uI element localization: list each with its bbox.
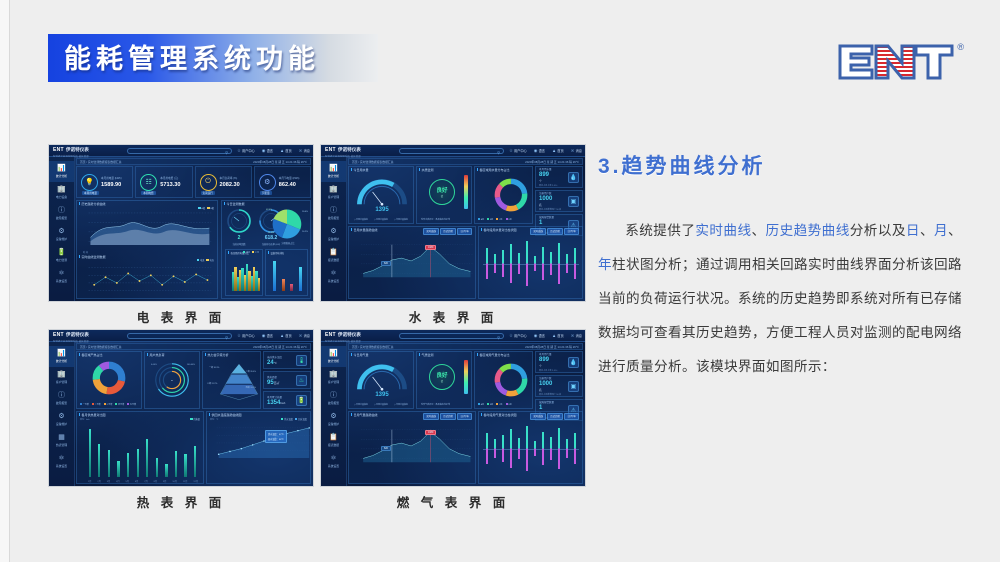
user-icon: ☃ [509,333,513,338]
sidebar-item-maintenance[interactable]: ⚙设备维护 [49,224,74,245]
brand-en: ENT [325,148,336,153]
panel-temp-trend: 供回水温度趋势曲线图 供水温度 回水温度 单位：℃ [206,411,311,484]
dashboard-canvas: 今日用气量 1395 ◇ 日用水量指标 ◇ 月用水量指标 ◇ 年用水量指标 气质… [348,351,583,484]
kpi-side-column: 本月用气量 899个 同比上月上涨 2.4% ↑ 💧 注册用户数 1000名 同… [535,351,583,409]
tooltip-line: 回水温度：38℃ [268,437,284,441]
alert-icon: ⓘ [58,392,65,399]
quality-color-scale [464,360,468,394]
sidebar-item-label: 故障报警 [56,216,67,220]
chart-axis-label: 时 间 [83,250,88,254]
sidebar-item-alarm[interactable]: ⓘ故障报警 [49,203,74,224]
kpi-label: 故障报警数量 [539,400,562,404]
topmenu-item-user[interactable]: ☃用户中心 [509,148,527,153]
screenshot-gas-meter[interactable]: ENT伊诺特仪表 智慧楼宇能源管理系统·能耗管理 ⚲ ☃用户中心 ◉语言 ▲首页… [320,329,586,487]
sidebar-item-devices[interactable]: 🏢电力设备 [49,182,74,203]
dashboard-header: ENT伊诺特仪表 智慧楼宇能源管理系统·能耗管理 ⚲ ☃用户中心 ◉语言 ▲首页… [49,145,313,157]
panel-title: 实时曲线监测数据 [79,255,106,259]
sidebar-item-customers[interactable]: 🏢客户管理 [49,367,74,388]
donut-legend: A区 B区 C区 D区 [478,218,512,221]
breadcrumb: 首页 / 实时监测数据报表数据汇总 [352,345,394,349]
bar-group-bidirectional [483,422,579,475]
chart-icon: 📊 [57,350,66,357]
sidebar-item-settings[interactable]: ⚛系统设置 [49,451,74,472]
kpi-row: 💡 本月用电量 (kWh) 1589.90 本期用电量 ☷ 本月用电费 (元) … [76,166,311,198]
legend-item: 上月 [252,251,259,254]
paragraph-text: 、 [920,223,934,238]
topmenu-item-user[interactable]: ☃用户中心 [237,333,255,338]
building-icon: 🏢 [329,371,338,378]
chart-marker-peak: 1689 [425,245,436,250]
search-icon: ⚲ [497,335,500,340]
sidebar-item-statistics[interactable]: 📊统计分析 [321,161,346,182]
kpi-unit: 个 [539,179,558,183]
topmenu-item-lang[interactable]: ◉语言 [262,148,273,153]
panel-title: 今日用水量 [351,168,369,172]
chart-button-row: 实时曲线 历史趋势 日/月/年 [423,413,472,420]
sidebar-item-settings[interactable]: ⚛系统设置 [49,266,74,287]
donut-legend: A区 B区 C区 D区 [478,403,512,406]
user-square-icon: ▣ [568,196,579,207]
button-realtime-curve[interactable]: 实时曲线 [423,413,439,420]
kpi-value: 1589.90 [101,182,122,188]
meter-icon: 🔋 [57,249,66,256]
kpi-tag: 节能量 [260,191,272,195]
legend-item: A区 [478,403,484,406]
pie-chart-energy-share [270,207,304,241]
screenshot-water-meter[interactable]: ENT伊诺特仪表 智慧楼宇能源管理系统·能耗管理 ⚲ ☃用户中心 ◉语言 ▲首页… [320,144,586,302]
droplet-icon: 💧 [568,357,579,368]
kpi-unit: 百㎡ [274,381,280,385]
topmenu-item-home[interactable]: ▲首页 [552,148,564,153]
grid-icon: ▦ [58,434,65,441]
pie-title: 分项能耗占比 [268,241,308,245]
kpi-value: 95 [267,380,274,386]
kpi-note: 同比上月上涨 2.4% ↑ [539,369,558,372]
button-history-trend[interactable]: 历史趋势 [440,228,456,235]
topmenu-item-bell[interactable]: ☉消息 [299,148,310,153]
chart-button-row: 实时曲线 历史趋势 日/月/年 [423,228,472,235]
report-icon: 📋 [329,249,338,256]
search-icon: ⚲ [497,150,500,155]
sidebar-item-statistics[interactable]: 📊统计分析 [49,161,74,182]
panel-today-usage: 今日用水量 1395 ◇ 日用水量指标 ◇ 月用水量指标 ◇ 年用水量指标 [348,166,414,224]
line-chart-usage [351,237,475,283]
legend-item: 五号楼 [127,403,136,406]
breadcrumb-bar: 首页 / 实时监测数据报表数据汇总 2020年08月28日 星 期 五 14:2… [348,158,583,165]
bar-group-bidirectional [483,237,579,290]
chart-icon: 📊 [329,350,338,357]
dashboard-canvas: 💡 本月用电量 (kWh) 1589.90 本期用电量 ☷ 本月用电费 (元) … [76,166,311,299]
breadcrumb: 首页 / 实时监测数据报表数据汇总 [352,160,394,164]
button-history-trend[interactable]: 历史趋势 [547,413,563,420]
breadcrumb: 首页 / 实时监测数据报表数据汇总 [80,345,122,349]
topmenu-item-bell[interactable]: ☉消息 [571,148,582,153]
kpi-card-heating-area[interactable]: 供热面积 95百㎡ ♨ [263,371,311,389]
pyramid-level-label: 二级 26.4% [246,370,256,373]
kpi-label: 注册用户数 [539,376,561,380]
legend-item: D区 [506,403,512,406]
home-icon: ▲ [552,333,556,338]
alert-icon: ⓘ [58,207,65,214]
gear-icon: ⚛ [58,455,64,462]
gear-icon: ⚛ [330,455,336,462]
search-input[interactable]: ⚲ [399,148,504,154]
dashboard-sidebar: 📊统计分析 🏢电力设备 ⓘ故障报警 ⚙设备维护 🔋电力监测 ⚛系统设置 [49,157,75,301]
kpi-value: 5713.30 [160,182,180,188]
gauge-label: 当前功率因数 [222,242,256,246]
panel-gas-usage-trend: 日用气量趋势曲线 实时曲线 历史趋势 日/月/年 820 1 [348,411,476,484]
quality-status-ring: 良好 优 [429,179,455,205]
kpi-value: 899 [539,357,558,363]
button-period[interactable]: 日/月/年 [564,228,579,235]
text-column: 3.趋势曲线分析 系统提供了实时曲线、历史趋势曲线分析以及日、月、年柱状图分析；… [598,150,962,384]
panel-title: 各区域用水量分布占比 [477,168,510,172]
panel-today-monitor: 今日监测数据 2 当前功率因数 [221,200,311,299]
kpi-label: 当前供水温度 [267,355,282,359]
panel-title: 历史趋势分析曲线 [79,202,106,206]
quality-note: 综合气质评价：各项指标均正常 [421,403,450,406]
datetime-status: 2020年08月28日 星 期 五 14:21:36 晴 26℃ [253,345,307,349]
panel-gas-period-compare: 各时段用气量对比柱状图 实时曲线 历史趋势 日/月/年 [478,411,583,484]
topmenu-item-bell[interactable]: ☉消息 [571,333,582,338]
panel-device-ranking: 设备用电排名 [265,249,308,296]
sidebar-item-alarm[interactable]: ⓘ故障报警 [321,388,346,409]
shield-icon: ⚙ [58,228,64,235]
chart-icon: 📊 [57,165,66,172]
gauge-semicircle [353,176,411,208]
chart-legend: 本月 上月 [243,251,259,254]
dashboard-electric: ENT伊诺特仪表 智慧楼宇能源管理系统·能耗管理 ⚲ ☃用户中心 ◉语言 ▲首页… [49,145,313,301]
sidebar-item-alarm[interactable]: ⓘ故障报警 [321,203,346,224]
topmenu-item-user[interactable]: ☃用户中心 [237,148,255,153]
topmenu-label: 语言 [267,148,273,153]
kpi-card-cost[interactable]: ☷ 本月用电费 (元) 5713.30 本期电费 [135,166,192,198]
legend-item: ◇ 日用水量指标 [354,218,368,221]
kpi-value: 1000 [539,196,561,202]
button-history-trend[interactable]: 历史趋势 [547,228,563,235]
kpi-label: 故障报警数量 [539,215,562,219]
bell-icon: ☉ [571,333,575,338]
panel-heat-pyramid: 热力金字塔分析 一级 18.3% 二级 26.4% 三级 31.2% 四级 24… [202,351,261,409]
button-period[interactable]: 日/月/年 [564,413,579,420]
button-realtime-curve[interactable]: 实时曲线 [530,228,546,235]
caption-electric-meter: 电 表 界 面 [48,307,314,326]
chart-marker-mid: 820 [381,261,391,266]
paragraph-text: 、 [948,223,962,238]
paragraph-highlight: 日 [906,223,920,238]
breadcrumb: 首页 / 实时监测数据报表数据汇总 [80,160,122,164]
kpi-unit: 名 [539,203,561,207]
sidebar-item-label: 设备维护 [56,237,67,241]
pyramid-level-label: 一级 18.3% [209,366,219,369]
legend-item: B区 [487,218,493,221]
paragraph-text: 、 [752,223,766,238]
gear-icon: ⚛ [58,270,64,277]
kpi-value: 24 [267,360,274,366]
sidebar-item-customers[interactable]: 🏢客户管理 [321,367,346,388]
datetime-status: 2020年08月28日 星 期 五 14:21:36 晴 26℃ [253,160,307,164]
axis-label-y: 单位：kwh [80,418,90,421]
dashboard-header: ENT伊诺特仪表 智慧楼宇能源管理系统·能耗管理 ⚲ ☃用户中心 ◉语言 ▲首页… [321,330,585,342]
kpi-card-monthly-usage[interactable]: 本月用水量 899个 同比上月上涨 2.4% ↑ 💧 [535,166,583,188]
dashboard-canvas: 今日用水量 1395 ◇ 日用水量指标 ◇ 月用水量指标 ◇ 年用水量指标 水质… [348,166,583,299]
sidebar-item-label: 系统设置 [56,279,67,283]
kpi-label: 本月累计热量 [267,395,285,399]
topmenu-item-lang[interactable]: ◉语言 [262,333,273,338]
bar-group [270,257,305,291]
kpi-value: 1354 [267,400,280,406]
search-input[interactable]: ⚲ [127,333,232,339]
kpi-card-saving[interactable]: ⚙ 本月节电量 (kWh) 862.40 节能量 [254,166,311,198]
kpi-card-monthly-gas[interactable]: 本月用气量 899个 同比上月上涨 2.4% ↑ 💧 [535,351,583,373]
gauge-value: 1395 [353,392,411,398]
kpi-value: 1000 [539,381,561,387]
screenshot-electric-meter[interactable]: ENT伊诺特仪表 智慧楼宇能源管理系统·能耗管理 ⚲ ☃用户中心 ◉语言 ▲首页… [48,144,314,302]
topmenu-item-lang[interactable]: ◉语言 [534,148,545,153]
search-icon: ⚲ [225,335,228,340]
kpi-tag: 本期电费 [141,191,155,195]
scatter-chart-realtime [81,261,215,301]
globe-icon: ◉ [534,148,538,153]
gauge-legend: ◇ 日用水量指标 ◇ 月用水量指标 ◇ 年用水量指标 [351,403,411,406]
dashboard-topmenu: ☃用户中心 ◉语言 ▲首页 ☉消息 [237,333,310,338]
dashboard-topmenu: ☃用户中心 ◉语言 ▲首页 ☉消息 [237,148,310,153]
search-input[interactable]: ⚲ [399,333,504,339]
panel-title: 各时段用水量对比柱状图 [481,228,517,232]
radial-tick-max: 100.00% [187,364,195,366]
donut-chart-heat [89,358,129,398]
kpi-label: 本月节电量 (kWh) [279,176,300,180]
dashboard-topmenu: ☃用户中心 ◉语言 ▲首页 ☉消息 [509,333,582,338]
panel-title: 日用水量趋势曲线 [351,228,378,232]
user-icon: ☃ [237,148,241,153]
kpi-side-column: 本月用水量 899个 同比上月上涨 2.4% ↑ 💧 注册用户数 1000名 同… [535,166,583,224]
user-square-icon: ▣ [568,381,579,392]
panel-today-gas-usage: 今日用气量 1395 ◇ 日用水量指标 ◇ 月用水量指标 ◇ 年用水量指标 [348,351,414,409]
panel-title: 各月供热量对比图 [79,413,106,417]
pie-slice-label: 11.2% [268,232,274,234]
topmenu-item-lang[interactable]: ◉语言 [534,333,545,338]
topmenu-item-user[interactable]: ☃用户中心 [509,333,527,338]
button-period[interactable]: 日/月/年 [457,228,472,235]
user-icon: ☃ [509,148,513,153]
kpi-unit: 个 [539,364,558,368]
legend-item: ◇ 月用水量指标 [374,218,388,221]
dashboard-brand: ENT伊诺特仪表 智慧楼宇能源管理系统·能耗管理 [53,147,111,156]
dashboard-water: ENT伊诺特仪表 智慧楼宇能源管理系统·能耗管理 ⚲ ☃用户中心 ◉语言 ▲首页… [321,145,585,301]
pyramid-level-label: 三级 31.2% [207,382,217,385]
button-realtime-curve[interactable]: 实时曲线 [423,228,439,235]
topmenu-item-home[interactable]: ▲首页 [552,333,564,338]
caption-gas-meter: 燃 气 表 界 面 [320,492,586,511]
panel-gas-quality: 气质监测 良好 优 综合气质评价：各项指标均正常 [416,351,472,409]
sidebar-item-statistics[interactable]: 📊统计分析 [321,346,346,367]
kpi-value: 899 [539,172,558,178]
sidebar-item-heatmeters[interactable]: ▦热表管理 [49,430,74,451]
home-icon: ▲ [552,148,556,153]
sidebar-item-statistics[interactable]: 📊统计分析 [49,346,74,367]
slide-left-edge [0,0,10,562]
chart-marker-peak: 1689 [425,430,436,435]
topmenu-item-home[interactable]: ▲首页 [280,333,292,338]
paragraph-text: 柱状图分析；通过调用相关回路实时曲线界面分析该回路当前的负荷运行状况。系统的历史… [598,257,962,374]
dashboard-canvas: 各区域产热占比 一号楼 二号楼 三号楼 四号楼 五号楼 用户 [76,351,311,484]
legend-item: C区 [496,403,502,406]
power-icon: ⏻ [200,174,217,191]
sidebar-item-maintenance[interactable]: ⚙设备维护 [49,409,74,430]
chart-button-row: 实时曲线 历史趋势 日/月/年 [530,413,579,420]
kpi-label: 注册用户数 [539,191,561,195]
datetime-status: 2020年08月28日 星 期 五 14:21:36 晴 26℃ [525,160,579,164]
panel-title: 热力金字塔分析 [205,353,229,357]
chart-legend: 供热量 [190,417,200,421]
caption-heat-meter: 热 表 界 面 [48,492,314,511]
panel-period-compare: 各时段用水量对比柱状图 实时曲线 历史趋势 日/月/年 [478,226,583,299]
search-icon: ⚲ [225,150,228,155]
kpi-card-monthly-heat[interactable]: 本月累计热量 1354kwh 🔋 [263,391,311,409]
brand-cn: 伊诺特仪表 [66,332,89,337]
brand-en: ENT [53,148,64,153]
topmenu-label: 首页 [285,148,291,153]
quality-color-scale [464,175,468,209]
chart-marker-mid: 820 [381,446,391,451]
panel-loop-compare: 各回路用电量对比 本月 上月 [225,249,263,296]
button-history-trend[interactable]: 历史趋势 [440,413,456,420]
dashboard-brand: ENT伊诺特仪表 智慧楼宇能源管理系统·能耗管理 [53,332,111,341]
kpi-note: 同比上月新增用户 50 名 [539,208,561,211]
sidebar-item-settings[interactable]: ⚛系统设置 [321,451,346,472]
legend-item: 供热量 [190,417,200,421]
body-paragraph: 系统提供了实时曲线、历史趋势曲线分析以及日、月、年柱状图分析；通过调用相关回路实… [598,214,962,384]
sidebar-item-reports[interactable]: 📋报表数据 [321,430,346,451]
kpi-unit: ℃ [274,361,277,365]
kpi-unit: 名 [539,388,561,392]
alert-icon: ⓘ [330,392,337,399]
flame-icon: ♨ [296,375,307,386]
shield-icon: ⚙ [58,413,64,420]
legend-item: 本月 [243,251,250,254]
paragraph-text: 分析以及 [850,223,906,238]
kpi-label: 供热面积 [267,375,279,379]
panel-title: 设备用电排名 [268,251,284,255]
gauge-power-factor [226,208,252,234]
kpi-note: 同比上月上涨 2.4% ↑ [539,184,558,187]
bar-group [232,257,260,291]
building-icon: 🏢 [57,186,66,193]
kpi-card-load[interactable]: ⏻ 本月负荷率 (%) 2082.30 负荷运行 [195,166,252,198]
kpi-label: 本月用电费 (元) [160,176,180,180]
page-title: 能耗管理系统功能 [64,38,394,80]
quality-status: 良好 [436,186,447,194]
gear-icon: ⚛ [330,270,336,277]
topmenu-item-home[interactable]: ▲首页 [280,148,292,153]
button-realtime-curve[interactable]: 实时曲线 [530,413,546,420]
kpi-side-column: 当前供水温度 24℃ 🌡 供热面积 95百㎡ ♨ 本月累计热量 1354kwh [263,351,311,409]
donut-chart-area [491,175,531,215]
line-chart-usage [351,422,475,468]
legend-item: C区 [496,218,502,221]
dashboard-header: ENT伊诺特仪表 智慧楼宇能源管理系统·能耗管理 ⚲ ☃用户中心 ◉语言 ▲首页… [49,330,313,342]
kpi-card-electricity[interactable]: 💡 本月用电量 (kWh) 1589.90 本期用电量 [76,166,133,198]
sidebar-item-customers[interactable]: 🏢客户管理 [321,182,346,203]
brand-en: ENT [325,333,336,338]
kpi-card-registered-users[interactable]: 注册用户数 1000名 同比上月新增用户 50 名 ▣ [535,375,583,397]
paragraph-highlight: 月 [934,223,948,238]
sidebar-item-alarm[interactable]: ⓘ故障报警 [49,388,74,409]
dashboard-header: ENT伊诺特仪表 智慧楼宇能源管理系统·能耗管理 ⚲ ☃用户中心 ◉语言 ▲首页… [321,145,585,157]
paragraph-text: 系统提供了 [625,223,695,238]
kpi-card-supply-temp[interactable]: 当前供水温度 24℃ 🌡 [263,351,311,369]
topmenu-label: 用户中心 [242,148,255,153]
bar-group [85,423,200,477]
button-period[interactable]: 日/月/年 [457,413,472,420]
topmenu-item-bell[interactable]: ☉消息 [299,333,310,338]
sidebar-item-maintenance[interactable]: ⚙设备维护 [321,224,346,245]
sidebar-item-reports[interactable]: 📋报表数据 [321,245,346,266]
datetime-status: 2020年08月28日 星 期 五 14:21:36 晴 26℃ [525,345,579,349]
kpi-label: 本月负荷率 (%) [220,176,240,180]
panel-title: 各时段用气量对比柱状图 [481,413,517,417]
panel-title: 今日监测数据 [224,202,245,206]
kpi-tag: 本期用电量 [82,191,99,195]
kpi-value: 2082.30 [220,182,240,188]
chart-legend: 供水温度 回水温度 [281,417,307,421]
panel-title: 供回水温度趋势曲线图 [209,413,242,417]
donut-chart-area [491,360,531,400]
sidebar-item-maintenance[interactable]: ⚙设备维护 [321,409,346,430]
tooltip-line: 供水温度：52℃ [268,432,284,436]
shield-icon: ⚙ [330,228,336,235]
legend-item: 四号楼 [115,403,124,406]
sidebar-item-settings[interactable]: ⚛系统设置 [321,266,346,287]
chart-icon: 📊 [329,165,338,172]
panel-heat-share: 各区域产热占比 一号楼 二号楼 三号楼 四号楼 五号楼 [76,351,142,409]
breadcrumb-bar: 首页 / 实时监测数据报表数据汇总 2020年08月28日 星 期 五 14:2… [76,343,311,350]
section-title: 3.趋势曲线分析 [598,150,962,180]
kpi-card-registered-users[interactable]: 注册用户数 1000名 同比上月新增用户 50 名 ▣ [535,190,583,212]
gauge-value: 2 [226,235,252,241]
dashboard-gas: ENT伊诺特仪表 智慧楼宇能源管理系统·能耗管理 ⚲ ☃用户中心 ◉语言 ▲首页… [321,330,585,486]
paragraph-highlight: 实时曲线 [695,223,751,238]
globe-icon: ◉ [534,333,538,338]
screenshot-heat-meter[interactable]: ENT伊诺特仪表 智慧楼宇能源管理系统·能耗管理 ⚲ ☃用户中心 ◉语言 ▲首页… [48,329,314,487]
panel-title: 今日用气量 [351,353,369,357]
sidebar-item-monitor[interactable]: 🔋电力监测 [49,245,74,266]
ent-logo-mark [838,42,956,82]
alert-icon: ⓘ [330,207,337,214]
panel-user-heat-load: 用户热负荷 • 0.00% 100.00% [144,351,200,409]
pie-slice-label: 42.0% [266,209,272,211]
globe-icon: ◉ [262,333,266,338]
pie-slice-label: 30.6% [302,211,308,213]
kpi-tag: 负荷运行 [201,191,215,195]
legend-item: 回水温度 [295,417,307,421]
pyramid-level-label: 四级 24.1% [246,386,256,389]
dashboard-sidebar: 📊统计分析 🏢客户管理 ⓘ故障报警 ⚙设备维护 📋报表数据 ⚛系统设置 [321,342,347,486]
axis-label-y: 单位：℃ [210,418,218,421]
home-icon: ▲ [280,148,284,153]
bulb-icon: 💡 [81,174,98,191]
grid-icon: ☷ [140,174,157,191]
quality-status: 良好 [436,371,447,379]
registered-mark: ® [957,42,964,52]
panel-history-trend: 历史趋势分析曲线 A相 B相 时 间 实时曲线监测数据 电流 [76,200,218,299]
dashboard-sidebar: 📊统计分析 🏢客户管理 ⓘ故障报警 ⚙设备维护 ▦热表管理 ⚛系统设置 [49,342,75,486]
sidebar-item-label: 电力监测 [56,258,67,262]
topmenu-label: 消息 [304,148,310,153]
search-input[interactable]: ⚲ [127,148,232,154]
home-icon: ▲ [280,333,284,338]
